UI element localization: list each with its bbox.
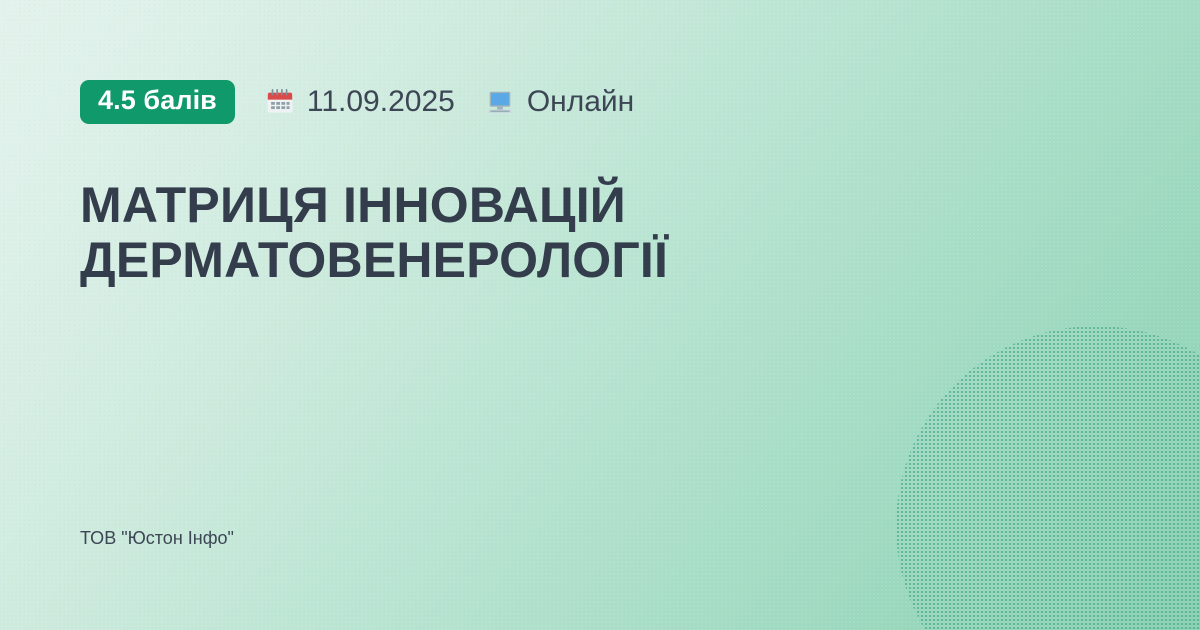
page-title: МАТРИЦЯ ІННОВАЦІЙ ДЕРМАТОВЕНЕРОЛОГІЇ [80,178,980,288]
event-format-value: Онлайн [527,87,634,117]
organizer-label: ТОВ "Юстон Інфо" [80,527,234,550]
meta-row: 4.5 балів [80,80,634,124]
card-content: 4.5 балів [0,0,1200,630]
event-date: 11.09.2025 [265,87,455,117]
calendar-icon [265,87,295,117]
computer-icon [485,87,515,117]
event-date-value: 11.09.2025 [307,87,455,117]
event-format: Онлайн [485,87,634,117]
score-badge: 4.5 балів [80,80,235,124]
event-card: 4.5 балів [0,0,1200,630]
